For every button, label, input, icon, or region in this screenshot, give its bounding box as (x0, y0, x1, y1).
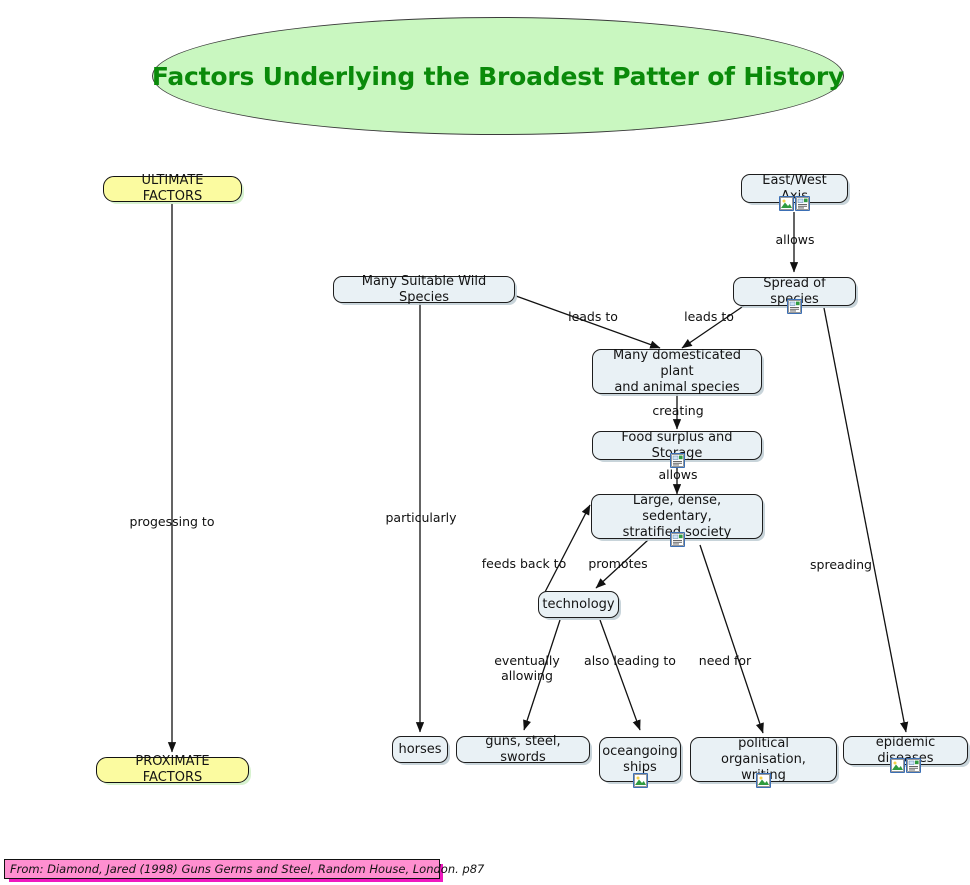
concept-map-canvas: Factors Underlying the Broadest Patter o… (0, 0, 970, 885)
icon-tray-east-west-axis (741, 195, 848, 211)
edge-label-feeds-back-to: feeds back to (478, 556, 570, 571)
node-ultimate-factors[interactable]: ULTIMATE FACTORS (103, 176, 242, 202)
node-label-line-1: Many domesticated plant (601, 348, 753, 380)
edge-label-leads-to-wildspec: leads to (561, 309, 625, 324)
image-icon[interactable] (779, 196, 794, 211)
edge-label-allows-foodsurp: allows (648, 467, 708, 482)
node-horses[interactable]: horses (392, 736, 448, 763)
node-many-suitable-wild-species[interactable]: Many Suitable Wild Species (333, 276, 515, 303)
document-icon[interactable] (787, 299, 802, 314)
edge-label-spreading: spreading (805, 557, 877, 572)
edge-label-need-for: need for (694, 653, 756, 668)
edge-label-line-2: allowing (501, 668, 553, 683)
icon-tray-spread-of-species (733, 298, 856, 314)
edge-society-to-political (700, 545, 763, 733)
edge-label-promotes: promotes (581, 556, 655, 571)
node-technology[interactable]: technology (538, 591, 619, 618)
node-proximate-factors[interactable]: PROXIMATE FACTORS (96, 757, 249, 783)
node-label: Many Suitable Wild Species (342, 274, 506, 306)
edge-label-line-1: eventually (494, 653, 560, 668)
icon-tray-political-organisation (690, 772, 837, 788)
edge-technology-to-ships (600, 620, 640, 730)
node-label-line-1: Large, dense, sedentary, (600, 493, 754, 525)
document-icon[interactable] (906, 758, 921, 773)
edge-spread-to-epidemic (824, 308, 906, 732)
icon-tray-epidemic-diseases (843, 757, 968, 773)
map-title-ellipse: Factors Underlying the Broadest Patter o… (152, 17, 844, 135)
image-icon[interactable] (756, 773, 771, 788)
edge-label-leads-to-spread: leads to (677, 309, 741, 324)
node-label-line-2: and animal species (614, 380, 739, 396)
edge-label-also-leading-to: also leading to (582, 653, 678, 668)
icon-tray-food-surplus (592, 452, 762, 468)
node-label: guns, steel, swords (465, 734, 581, 766)
edge-label-allows-ewaxis: allows (765, 232, 825, 247)
node-label-line-1: political organisation, (699, 736, 828, 768)
edge-label-creating: creating (644, 403, 712, 418)
node-label: PROXIMATE FACTORS (105, 754, 240, 786)
icon-tray-oceangoing-ships (599, 772, 681, 788)
node-label: ULTIMATE FACTORS (112, 173, 233, 205)
edge-technology-to-society (545, 505, 590, 592)
citation-text: From: Diamond, Jared (1998) Guns Germs a… (10, 862, 484, 876)
citation-box: From: Diamond, Jared (1998) Guns Germs a… (4, 859, 440, 879)
node-label: technology (542, 597, 614, 613)
image-icon[interactable] (633, 773, 648, 788)
document-icon[interactable] (670, 453, 685, 468)
node-guns-steel-swords[interactable]: guns, steel, swords (456, 736, 590, 763)
node-many-domesticated-species[interactable]: Many domesticated plant and animal speci… (592, 349, 762, 394)
image-icon[interactable] (890, 758, 905, 773)
edge-label-progressing-to: progessing to (126, 514, 218, 529)
document-icon[interactable] (795, 196, 810, 211)
edge-label-eventually-allowing: eventually allowing (487, 653, 567, 683)
node-label: horses (398, 742, 441, 758)
document-icon[interactable] (670, 532, 685, 547)
icon-tray-society (591, 531, 763, 547)
node-label-line-1: oceangoing (602, 744, 678, 760)
edge-label-particularly: particularly (385, 510, 457, 525)
page-title: Factors Underlying the Broadest Patter o… (152, 62, 844, 91)
